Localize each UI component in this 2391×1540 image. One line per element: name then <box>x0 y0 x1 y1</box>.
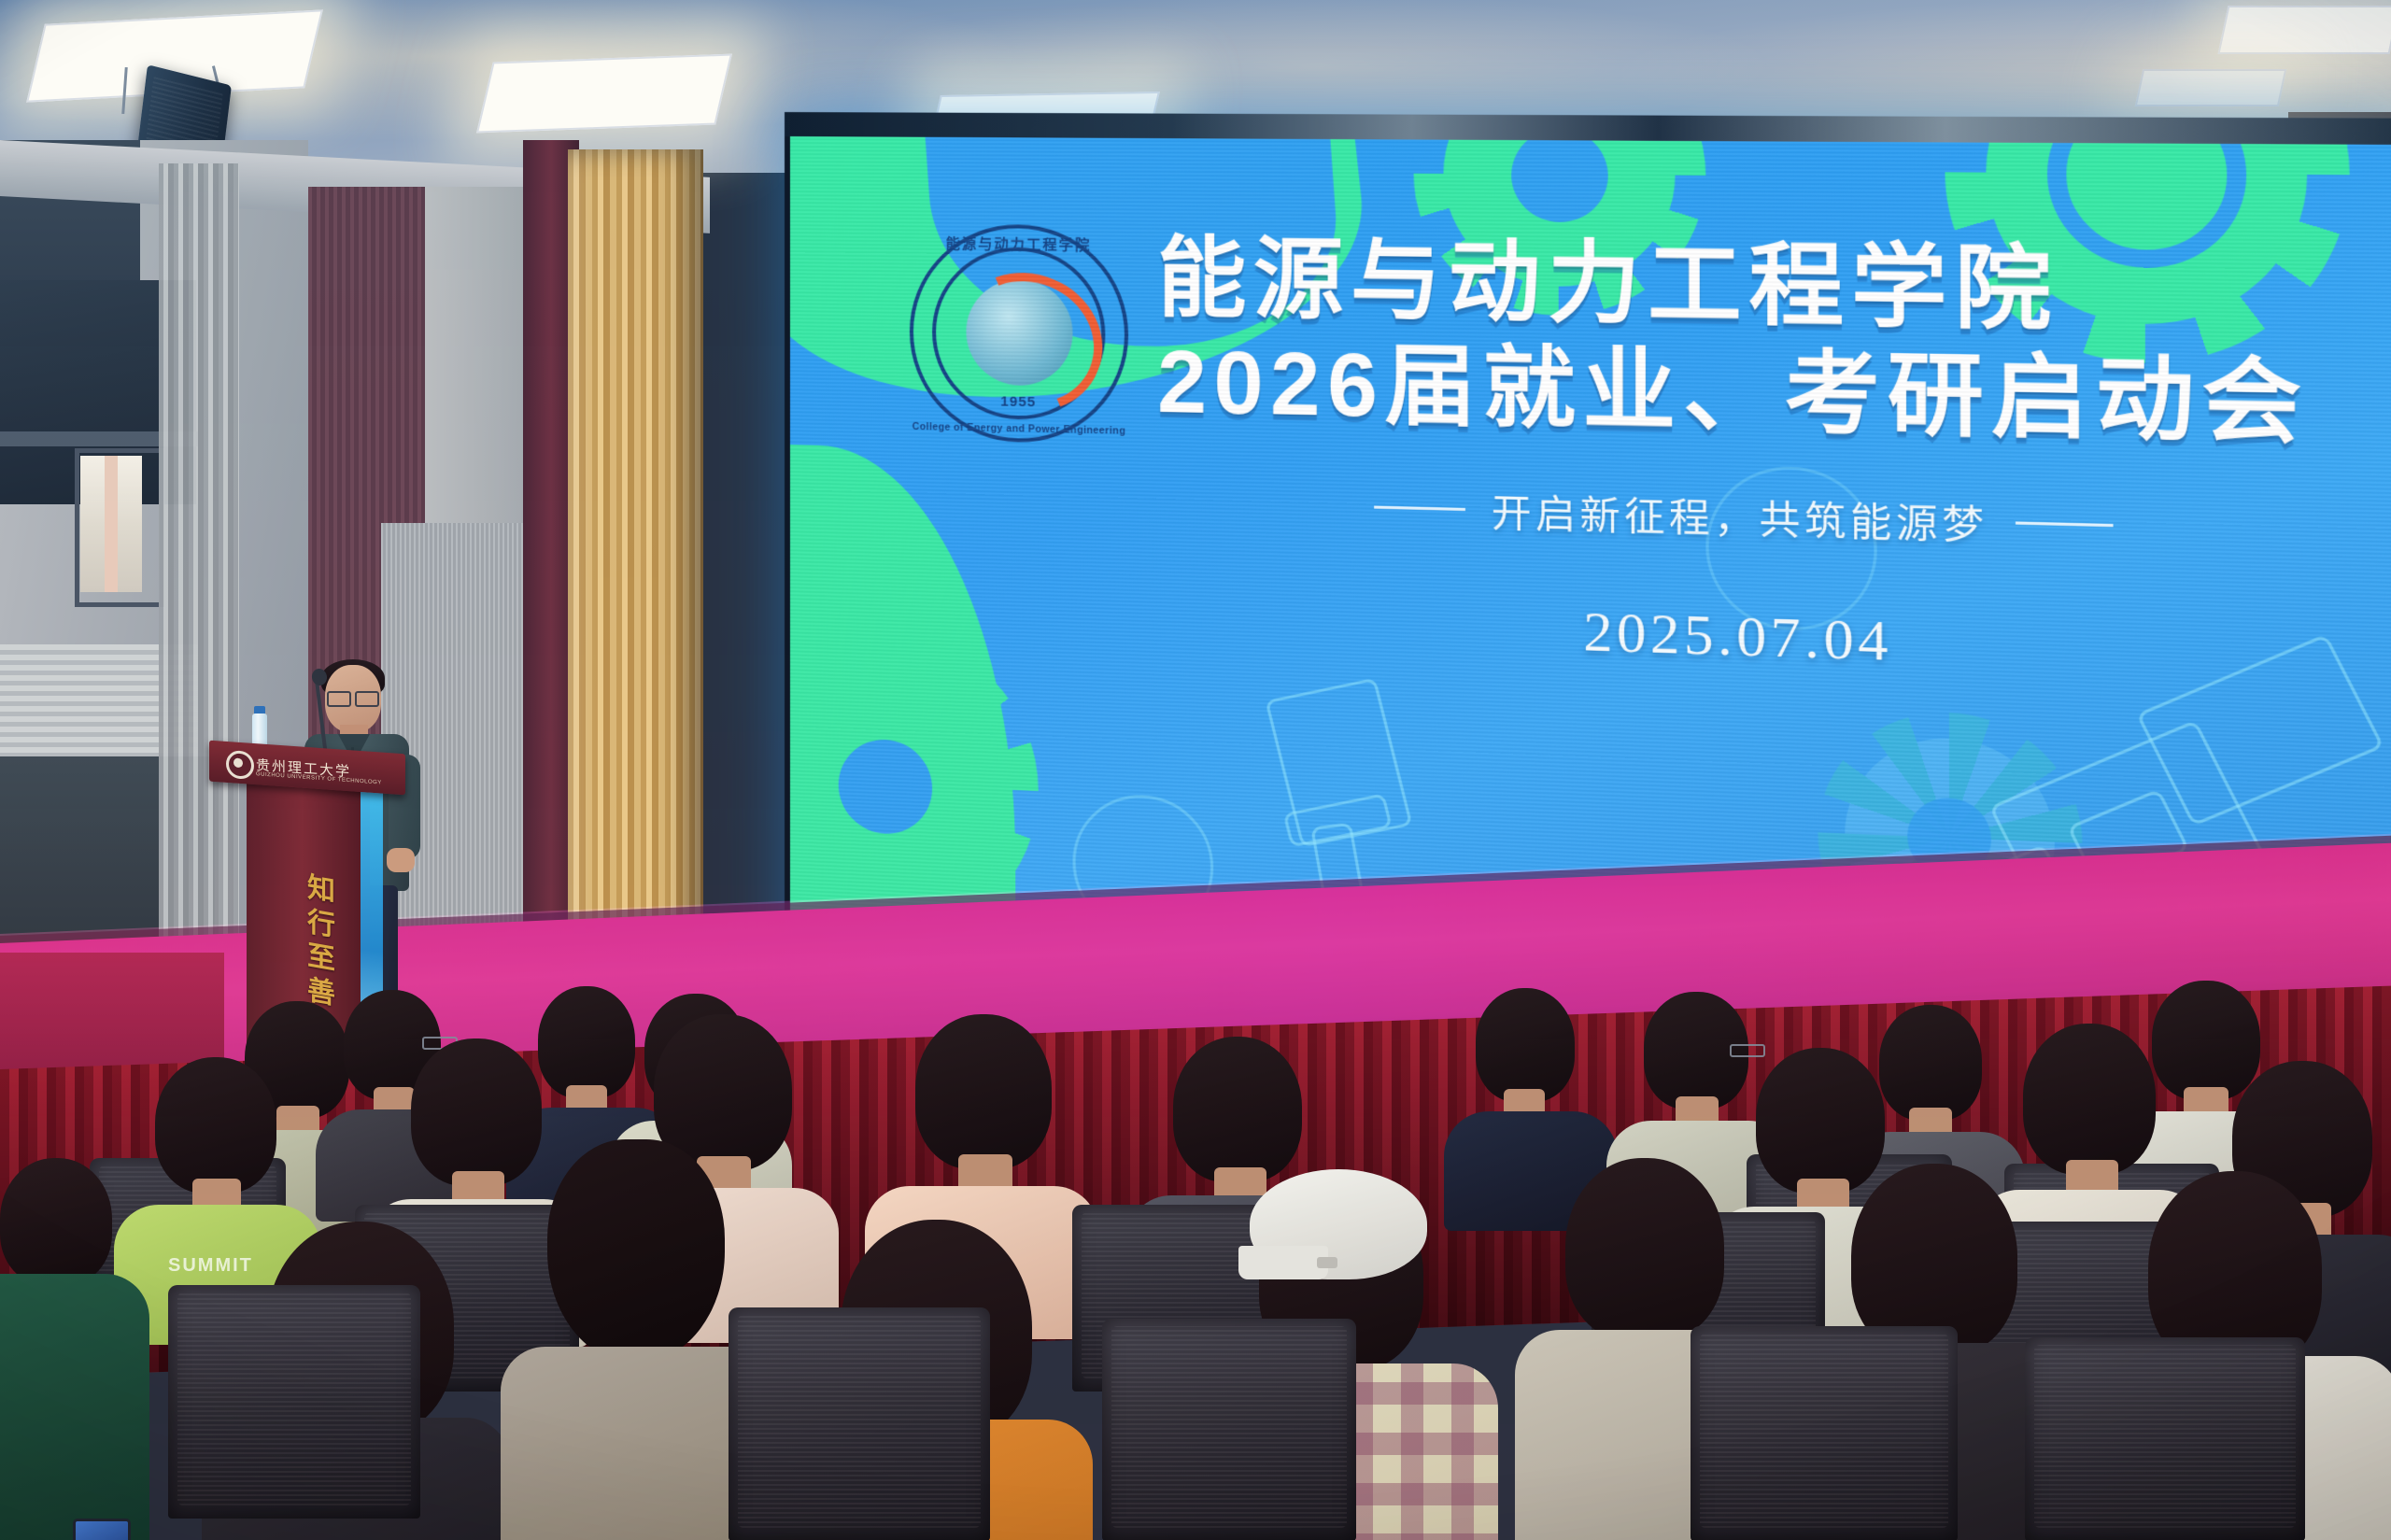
head <box>538 986 635 1098</box>
screen-subtitle-row: 开启新征程，共筑能源梦 <box>1198 474 2308 558</box>
auditorium-chair[interactable] <box>2025 1337 2305 1540</box>
subtitle-rule-right <box>2016 521 2114 527</box>
chair-mesh <box>738 1315 981 1528</box>
cap-strap <box>1317 1257 1337 1268</box>
audience-seating: SUMMIT <box>0 971 2391 1540</box>
auditorium-chair[interactable] <box>168 1285 420 1519</box>
emblem-english-name: College of Energy and Power Engineering <box>910 421 1128 437</box>
head <box>411 1038 542 1186</box>
smartphone[interactable] <box>73 1519 131 1540</box>
chair-mesh <box>1700 1334 1948 1528</box>
college-emblem: 能源与动力工程学院 1955 College of Energy and Pow… <box>910 223 1128 445</box>
head <box>1173 1037 1302 1182</box>
head <box>2023 1024 2156 1175</box>
screen-subtitle: 开启新征程，共筑能源梦 <box>1492 482 1988 551</box>
head <box>155 1057 276 1194</box>
head <box>1756 1048 1885 1194</box>
chair-mesh <box>177 1293 411 1505</box>
auditorium-scene: 能源与动力工程学院 1955 College of Energy and Pow… <box>0 0 2391 1540</box>
torso <box>0 1274 149 1540</box>
head <box>1476 988 1575 1102</box>
window-frame <box>75 448 164 607</box>
head <box>1565 1158 1724 1341</box>
auditorium-chair[interactable] <box>1102 1319 1356 1540</box>
chair-mesh <box>1111 1326 1347 1528</box>
auditorium-chair[interactable] <box>729 1307 990 1540</box>
head <box>547 1139 725 1363</box>
screen-title-line-2: 2026届就业、考研启动会 <box>1157 333 2391 458</box>
screen-title-line-1: 能源与动力工程学院 <box>1157 230 2391 347</box>
ceiling-panel-light <box>2135 69 2287 106</box>
chair-mesh <box>2034 1345 2296 1528</box>
subtitle-rule-left <box>1374 505 1465 511</box>
eyeglasses-icon <box>327 691 379 704</box>
head <box>2152 981 2260 1100</box>
emblem-chinese-name: 能源与动力工程学院 <box>910 233 1128 255</box>
auditorium-chair[interactable] <box>1691 1326 1958 1540</box>
screen-title-block: 能源与动力工程学院 2026届就业、考研启动会 <box>1157 230 2391 458</box>
shirt-logo-text: SUMMIT <box>168 1255 253 1277</box>
lectern-top: 贵州理工大学 GUIZHOU UNIVERSITY OF TECHNOLOGY <box>209 741 405 796</box>
university-logo-icon <box>226 750 254 780</box>
head <box>1879 1005 1982 1121</box>
head <box>915 1014 1052 1169</box>
cap-brim <box>1238 1246 1328 1279</box>
head <box>0 1158 112 1285</box>
ceiling-panel-light <box>476 54 732 134</box>
ceiling-panel-light <box>2217 6 2391 54</box>
gold-stage-curtain <box>568 149 703 990</box>
screen-date: 2025.07.04 <box>1198 587 2308 687</box>
eyeglasses-icon <box>1730 1044 1765 1057</box>
